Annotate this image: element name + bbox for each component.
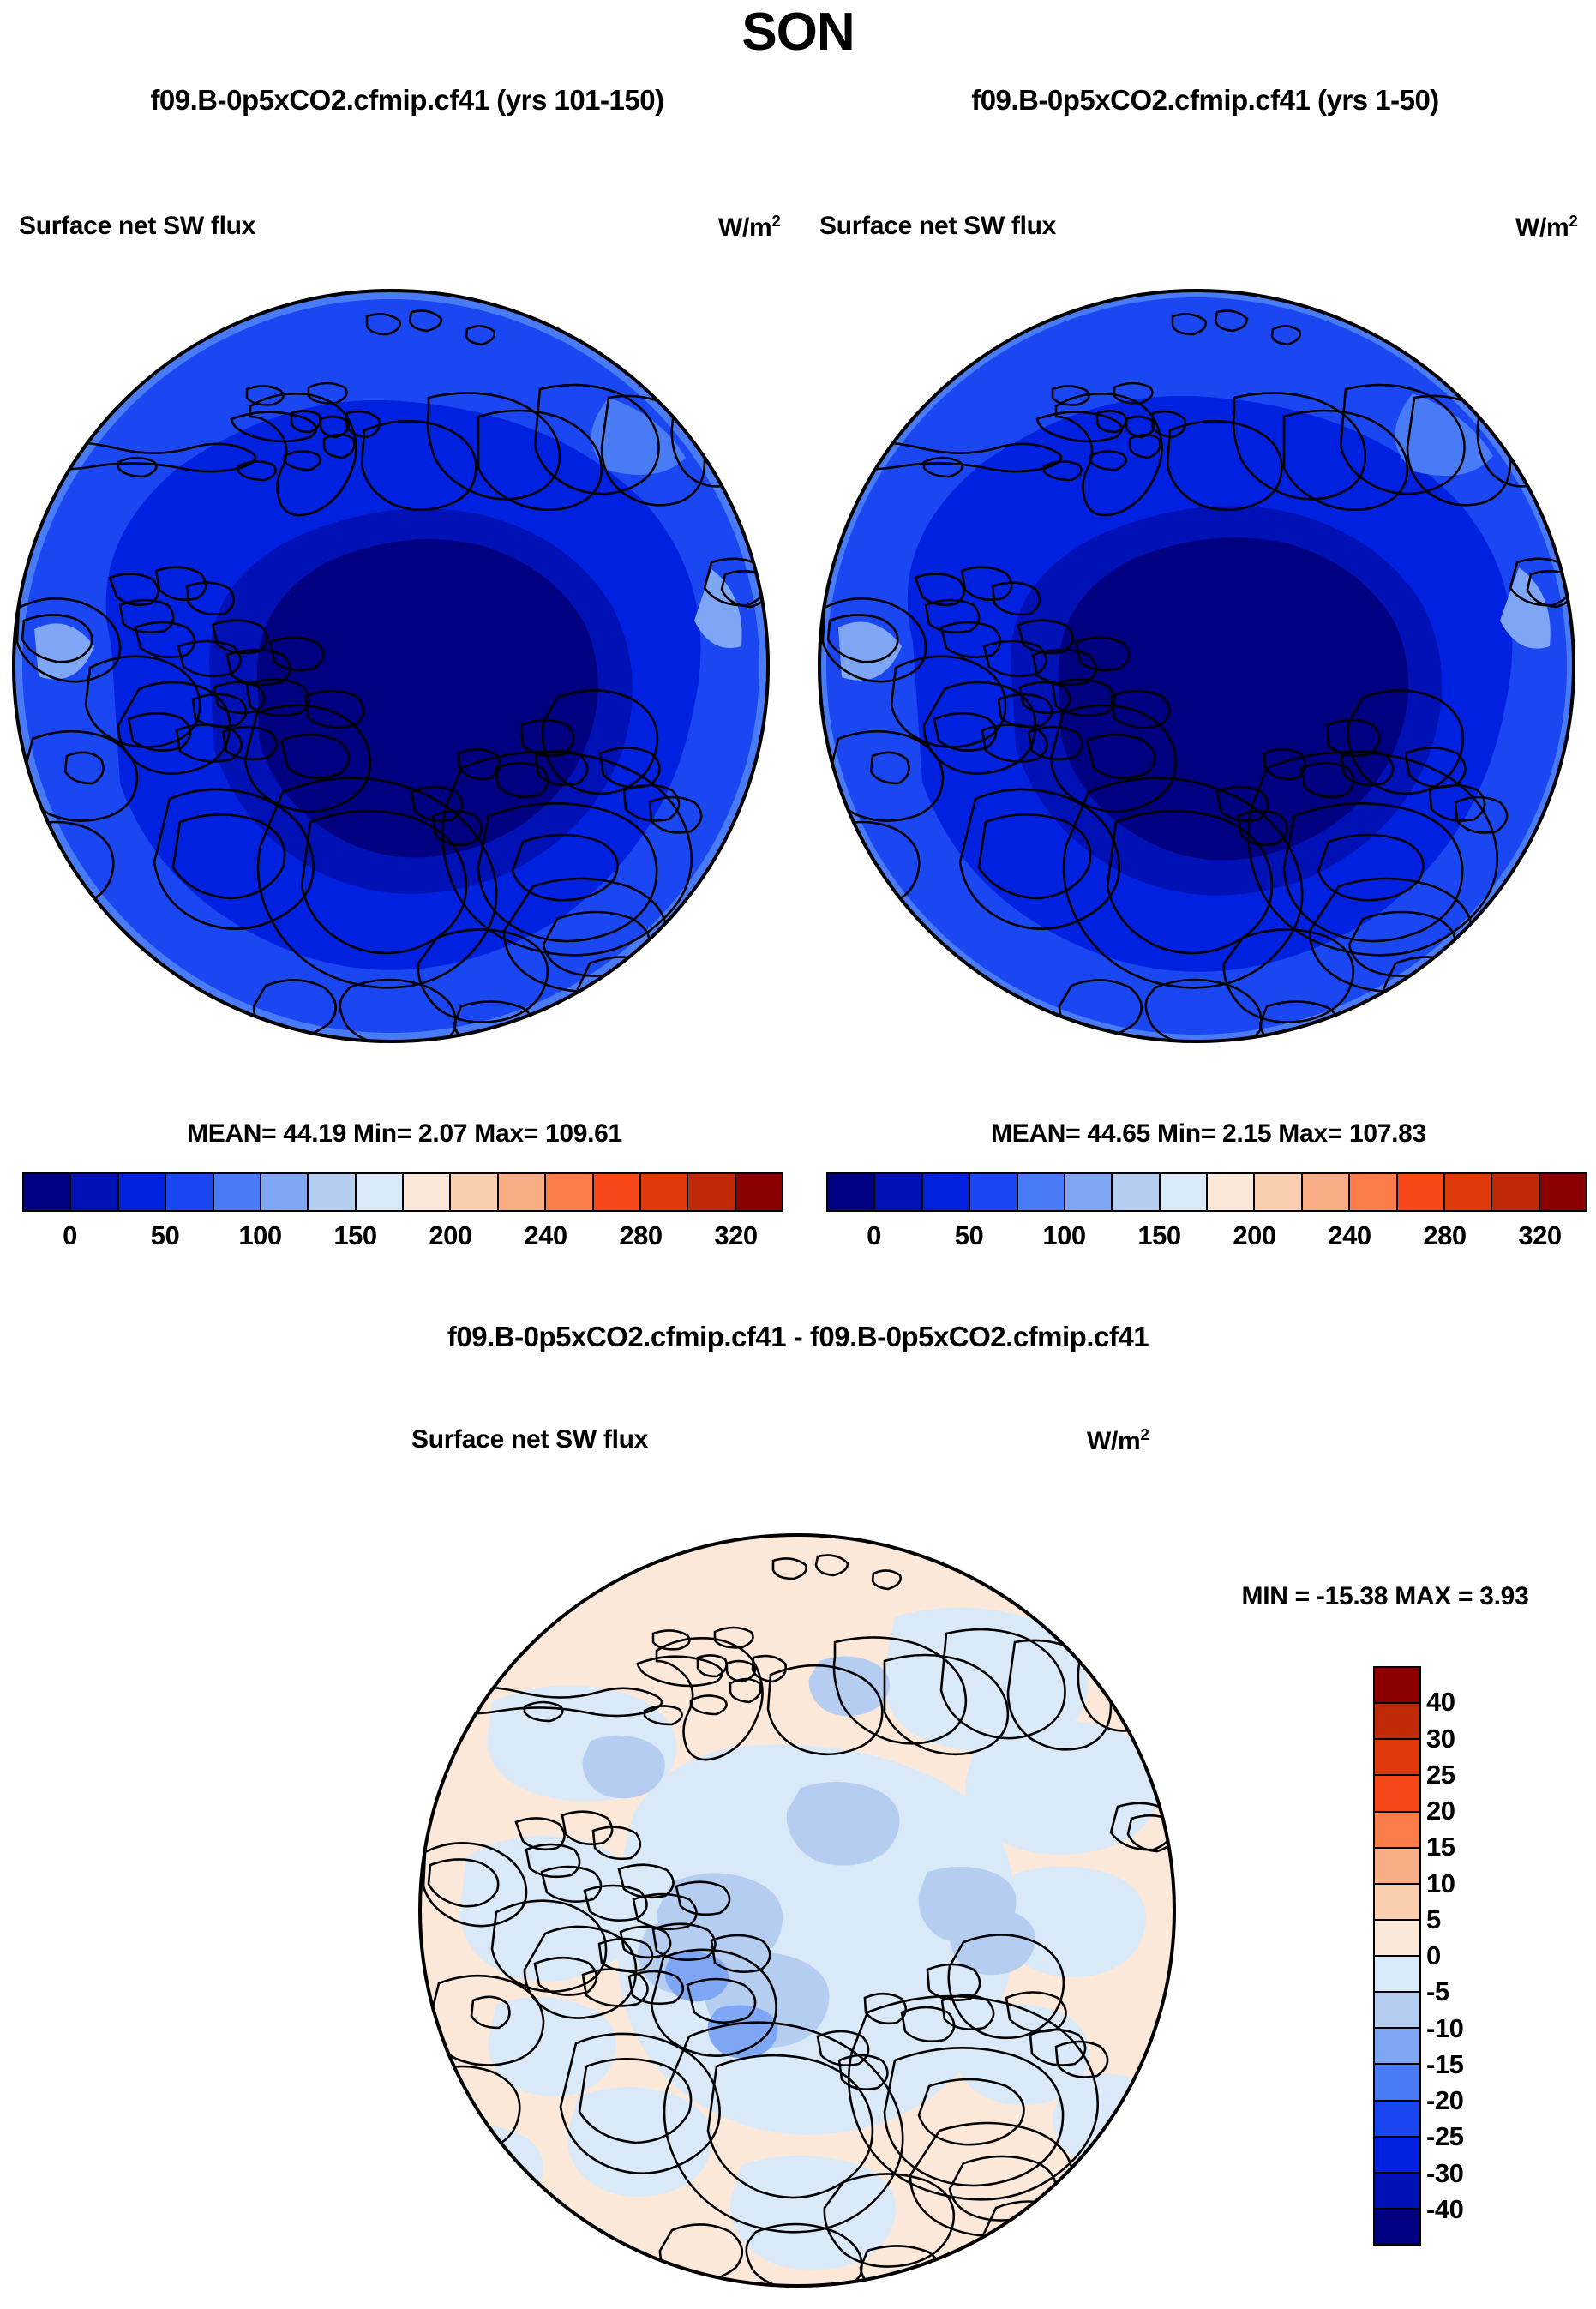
colorbar-cell [1375,2029,1419,2065]
colorbar-cell [736,1174,782,1210]
colorbar-cell [1375,1776,1419,1812]
colorbar-tick-label: 150 [1137,1220,1180,1251]
colorbar-tick-label: -5 [1426,1976,1503,2007]
colorbar-tick-label: 5 [1426,1904,1503,1935]
colorbar-cell [1375,2138,1419,2174]
colorbar-cell [451,1174,498,1210]
stats-right: MEAN= 44.65 Min= 2.15 Max= 107.83 [821,1119,1596,1149]
colorbar-cell [1445,1174,1492,1210]
colorbar-cell [970,1174,1017,1210]
case-title-left: f09.B-0p5xCO2.cfmip.cf41 (yrs 101-150) [0,84,814,117]
colorbar-cell [1113,1174,1160,1210]
colorbar-cell [546,1174,593,1210]
colorbar-cell [875,1174,922,1210]
colorbar-tick-label: 0 [867,1220,881,1251]
colorbar-tick-label: 280 [1423,1220,1466,1251]
units-exponent: 2 [771,212,780,230]
colorbar-difference[interactable] [1373,1666,1421,2246]
colorbar-cell [1375,1668,1419,1704]
colorbar-cell [1375,1885,1419,1921]
polar-map-right [814,286,1579,1046]
colorbar-tick-label: 150 [333,1220,376,1251]
colorbar-tick-label: 25 [1426,1760,1503,1790]
map-panel-right [814,286,1579,1046]
colorbar-cell [1375,1704,1419,1740]
colorbar-tick-label: -30 [1426,2158,1503,2189]
colorbar-tick-label: 50 [151,1220,179,1251]
units-exponent: 2 [1569,212,1577,230]
colorbar-cell [1375,1740,1419,1776]
units-text: W/m [718,213,771,242]
stats-left: MEAN= 44.19 Min= 2.07 Max= 109.61 [17,1119,792,1149]
colorbar-cell [1350,1174,1397,1210]
panel-header-units-right: W/m2 [1515,212,1577,243]
colorbar-cell [1375,2065,1419,2101]
season-title: SON [0,2,1596,63]
units-text: W/m [1515,213,1569,242]
colorbar-cell [1018,1174,1065,1210]
colorbar-tick-label: -20 [1426,2085,1503,2116]
colorbar-tick-label: 10 [1426,1868,1503,1899]
stats-difference: MIN = -15.38 MAX = 3.93 [1183,1582,1587,1611]
colorbar-tick-label: 40 [1426,1687,1503,1718]
colorbar-cell [1540,1174,1586,1210]
colorbar-tick-label: 30 [1426,1724,1503,1754]
colorbar-tick-label: 200 [1233,1220,1275,1251]
colorbar-cell [1375,1813,1419,1849]
colorbar-cell [1065,1174,1113,1210]
panel-header-units-difference: W/m2 [1087,1425,1149,1456]
colorbar-cell [1303,1174,1350,1210]
colorbar-cell [1161,1174,1208,1210]
colorbar-tick-label: 20 [1426,1796,1503,1826]
colorbar-cell [1375,2174,1419,2210]
colorbar-cell [594,1174,641,1210]
colorbar-cell [923,1174,970,1210]
panel-header-variable-difference: Surface net SW flux [411,1425,648,1454]
colorbar-tick-label: -25 [1426,2121,1503,2152]
colorbar-tick-label: 200 [429,1220,471,1251]
colorbar-left[interactable] [22,1172,783,1212]
colorbar-cell [214,1174,261,1210]
colorbar-cell [357,1174,404,1210]
colorbar-cell [499,1174,546,1210]
colorbar-cell [1375,1957,1419,1993]
colorbar-tick-label: 320 [1518,1220,1561,1251]
colorbar-tick-label: -40 [1426,2194,1503,2225]
units-exponent: 2 [1140,1425,1149,1443]
colorbar-cell [1375,1921,1419,1957]
colorbar-tick-label: 240 [524,1220,567,1251]
polar-map-difference [415,1531,1179,2290]
colorbar-cell [688,1174,735,1210]
colorbar-cell [1375,1849,1419,1885]
panel-header-variable-right: Surface net SW flux [819,212,1056,241]
polar-map-left [9,286,773,1046]
colorbar-cell [166,1174,213,1210]
colorbar-tick-label: 320 [714,1220,757,1251]
colorbar-tick-label: 0 [63,1220,77,1251]
colorbar-tick-label: 240 [1328,1220,1371,1251]
colorbar-cell [119,1174,166,1210]
colorbar-cell [1375,2210,1419,2244]
case-title-right: f09.B-0p5xCO2.cfmip.cf41 (yrs 1-50) [814,84,1596,117]
colorbar-cell [261,1174,309,1210]
colorbar-cell [1492,1174,1539,1210]
colorbar-tick-label: 100 [238,1220,281,1251]
colorbar-left-labels: 050100150200240280320 [22,1220,783,1258]
colorbar-tick-label: 0 [1426,1940,1503,1971]
colorbar-cell [1398,1174,1445,1210]
colorbar-tick-label: 15 [1426,1832,1503,1862]
colorbar-right[interactable] [826,1172,1587,1212]
colorbar-difference-labels: 40302520151050-5-10-15-20-25-30-40 [1426,1666,1503,2246]
units-text: W/m [1087,1427,1140,1455]
colorbar-cell [404,1174,451,1210]
colorbar-cell [1208,1174,1255,1210]
difference-case-title: f09.B-0p5xCO2.cfmip.cf41 - f09.B-0p5xCO2… [0,1321,1596,1353]
colorbar-cell [1375,2102,1419,2138]
colorbar-cell [828,1174,875,1210]
colorbar-tick-label: -10 [1426,2013,1503,2044]
map-panel-left [9,286,773,1046]
colorbar-cell [71,1174,118,1210]
colorbar-cell [641,1174,688,1210]
colorbar-cell [1375,1993,1419,2029]
colorbar-cell [309,1174,356,1210]
panel-header-variable-left: Surface net SW flux [19,212,255,241]
colorbar-cell [24,1174,71,1210]
panel-header-units-left: W/m2 [718,212,780,243]
colorbar-cell [1255,1174,1302,1210]
colorbar-tick-label: -15 [1426,2049,1503,2080]
colorbar-tick-label: 50 [955,1220,983,1251]
map-panel-difference [415,1531,1179,2290]
colorbar-right-labels: 050100150200240280320 [826,1220,1587,1258]
colorbar-tick-label: 100 [1042,1220,1085,1251]
colorbar-tick-label: 280 [619,1220,662,1251]
